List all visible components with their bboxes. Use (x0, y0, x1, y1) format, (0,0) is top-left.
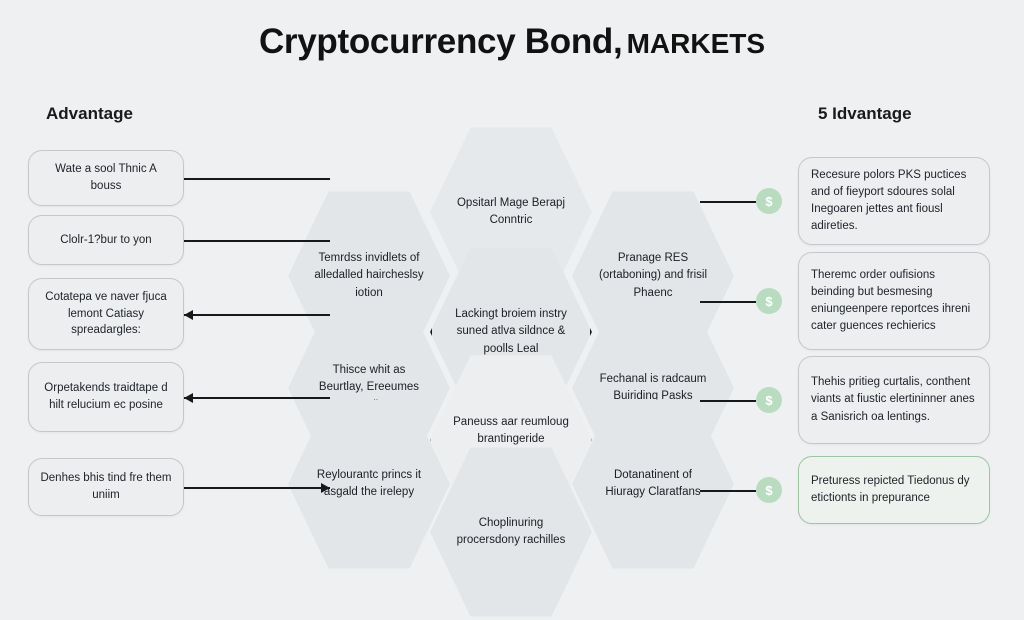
right-item-1[interactable]: Recesure polors PKS puctices and of fiey… (798, 157, 990, 245)
left-item-3[interactable]: Cotatepa ve naver fjuca lemont Catiasy s… (28, 278, 184, 350)
left-item-label: Denhes bhis tind fre them uniim (39, 470, 173, 503)
right-column-heading: 5 Idvantage (818, 104, 912, 124)
dollar-icon: $ (756, 387, 782, 413)
page-title: Cryptocurrency Bond, MARKETS (0, 22, 1024, 62)
left-connector-3 (184, 314, 330, 316)
left-arrow-3 (184, 310, 193, 320)
left-arrow-4 (184, 393, 193, 403)
left-connector-1 (184, 178, 330, 180)
hexagon-label: Dotanatinent of Hiuragy Claratfans (594, 467, 712, 502)
page-title-main: Cryptocurrency Bond, (259, 22, 623, 61)
left-item-label: Orpetakends traidtape d hilt relucium ec… (39, 380, 173, 413)
left-item-label: Wate a sool Thnic A bouss (39, 161, 173, 194)
right-connector-1 (700, 201, 756, 203)
left-item-4[interactable]: Orpetakends traidtape d hilt relucium ec… (28, 362, 184, 432)
dollar-icon: $ (756, 288, 782, 314)
dollar-icon: $ (756, 188, 782, 214)
right-item-label: Thehis pritieg curtalis, conthent viants… (811, 374, 977, 426)
left-connector-4 (184, 397, 330, 399)
dollar-icon: $ (756, 477, 782, 503)
left-item-label: Cotatepa ve naver fjuca lemont Catiasy s… (39, 289, 173, 339)
right-item-label: Theremc order oufisions beinding but bes… (811, 267, 977, 336)
hexagon-label: Temrdss invidlets of alledalled hairches… (310, 250, 428, 302)
hexagon-label: Lackingt broiem instry suned atlva sildn… (452, 306, 570, 358)
page-title-sub: MARKETS (627, 28, 765, 59)
hexagon-label: Pranage RES (ortaboning) and frisil Phae… (594, 250, 712, 302)
left-item-5[interactable]: Denhes bhis tind fre them uniim (28, 458, 184, 516)
left-connector-5 (184, 487, 330, 489)
right-item-label: Preturess repicted Tiedonus dy etictiont… (811, 473, 977, 508)
left-column-heading: Advantage (46, 104, 133, 124)
left-item-label: Clolr-1?bur to yon (60, 232, 151, 249)
right-item-2[interactable]: Theremc order oufisions beinding but bes… (798, 252, 990, 350)
left-item-2[interactable]: Clolr-1?bur to yon (28, 215, 184, 265)
right-connector-3 (700, 400, 756, 402)
hexagon-label: Choplinuring procersdony rachilles (452, 515, 570, 550)
hexagon-label: Opsitarl Mage Berapj Conntric (452, 195, 570, 230)
right-connector-4 (700, 490, 756, 492)
left-connector-2 (184, 240, 330, 242)
right-item-label: Recesure polors PKS puctices and of fiey… (811, 167, 977, 236)
left-item-1[interactable]: Wate a sool Thnic A bouss (28, 150, 184, 206)
right-item-3[interactable]: Thehis pritieg curtalis, conthent viants… (798, 356, 990, 444)
right-item-4[interactable]: Preturess repicted Tiedonus dy etictiont… (798, 456, 990, 524)
left-arrow-5 (321, 483, 330, 493)
right-connector-2 (700, 301, 756, 303)
